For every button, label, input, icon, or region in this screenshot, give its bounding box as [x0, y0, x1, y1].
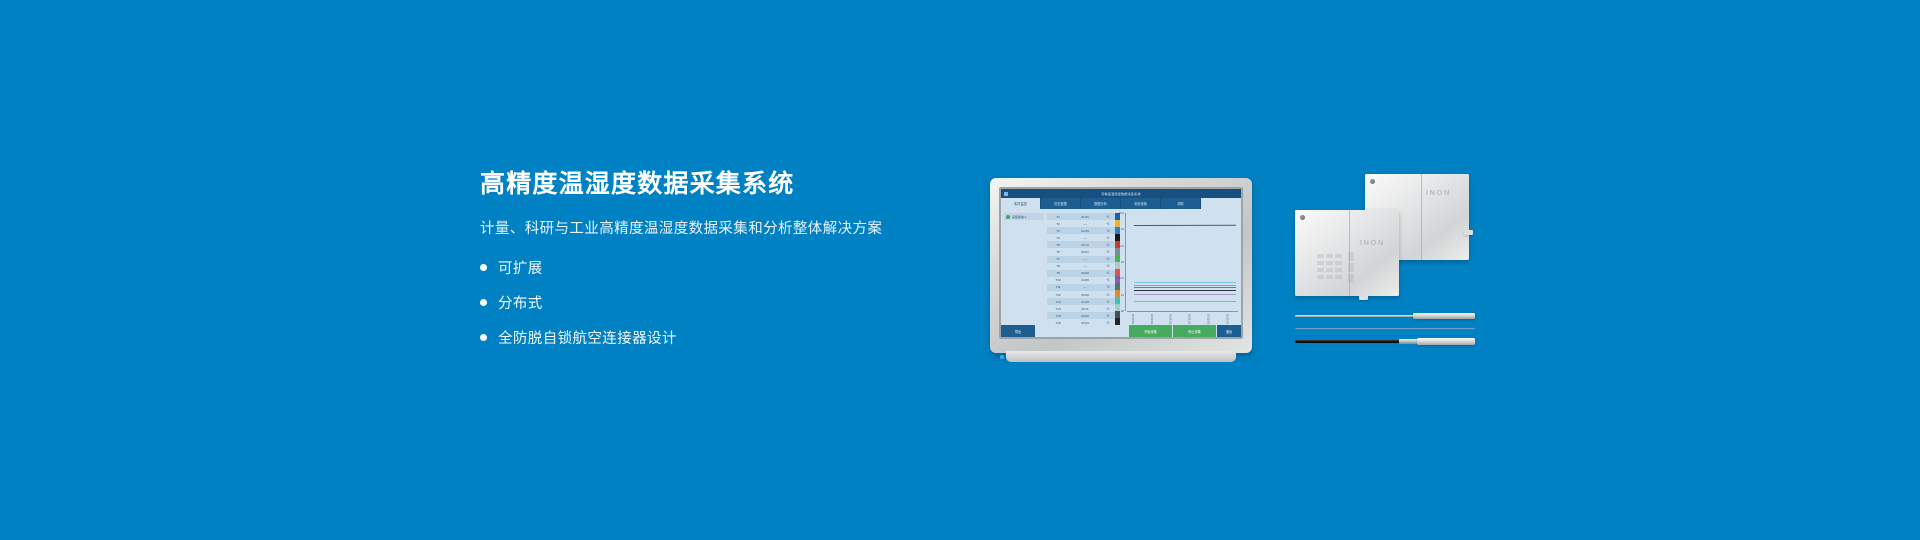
cell-unit: ℃	[1101, 215, 1115, 219]
probe-cable	[1295, 340, 1405, 343]
table-row[interactable]: T7----℃	[1047, 256, 1115, 263]
cell-unit: ℃	[1101, 243, 1115, 247]
cell-channel: T4	[1047, 236, 1069, 240]
cell-value: 20.98	[1069, 271, 1101, 275]
chart-x-tick: 10:20:01	[1131, 314, 1134, 324]
chart-y-tick: 22.0	[1119, 276, 1124, 280]
probe-tip	[1413, 313, 1475, 319]
stop-acquisition-button[interactable]: 停止采集	[1173, 325, 1217, 337]
chart-series-line	[1134, 285, 1236, 286]
cell-channel: T14	[1047, 307, 1069, 311]
cell-channel: T12	[1047, 293, 1069, 297]
chart-y-tick: 21	[1121, 293, 1124, 297]
chart-y-tick: 24	[1121, 227, 1124, 231]
cell-unit: ℃	[1101, 257, 1115, 261]
table-row[interactable]: T11----℃	[1047, 284, 1115, 291]
banner-copy: 高精度温湿度数据采集系统 计量、科研与工业高精度温湿度数据采集和分析整体解决方案…	[480, 170, 910, 348]
cell-unit: ℃	[1101, 229, 1115, 233]
table-row[interactable]: T1324.20℃	[1047, 298, 1115, 305]
cell-value: 20.61	[1069, 250, 1101, 254]
export-button[interactable]: 导出	[1001, 325, 1035, 337]
brand-label: INON	[1360, 238, 1385, 247]
cell-value: 24.88	[1069, 278, 1101, 282]
chart-series-line	[1134, 290, 1236, 291]
device-node-label: 采集模块-1	[1012, 215, 1027, 219]
cell-channel: T15	[1047, 314, 1069, 318]
connector-array-icon	[1317, 252, 1363, 284]
bullet-icon	[480, 299, 487, 306]
table-row[interactable]: T1220.90℃	[1047, 291, 1115, 298]
power-led-icon	[1000, 355, 1004, 359]
monitor-screen: 高精度温湿度数据采集系统 实时监控 历史数据 数据分析 系统设置 帮助	[1001, 189, 1241, 337]
chart-y-tick: 20	[1121, 309, 1124, 313]
cell-unit: ℃	[1101, 222, 1115, 226]
hardware-modules: INON INON	[1295, 172, 1470, 302]
screw-icon	[1300, 215, 1305, 220]
page-title: 高精度温湿度数据采集系统	[480, 170, 910, 199]
feature-label: 全防脱自锁航空连接器设计	[498, 327, 677, 348]
cell-unit: ℃	[1101, 236, 1115, 240]
chart-series-line	[1134, 294, 1236, 295]
device-tree-panel: 采集模块-1	[1001, 209, 1047, 325]
cell-channel: T2	[1047, 222, 1069, 226]
tab-realtime[interactable]: 实时监控	[1001, 198, 1041, 209]
software-tabbar: 实时监控 历史数据 数据分析 系统设置 帮助	[1001, 198, 1241, 209]
cell-unit: ℃	[1101, 271, 1115, 275]
table-row[interactable]: T620.61℃	[1047, 248, 1115, 255]
cell-unit: ℃	[1101, 300, 1115, 304]
cell-unit: ℃	[1101, 250, 1115, 254]
tab-analysis[interactable]: 数据分析	[1081, 198, 1121, 209]
cell-unit: ℃	[1101, 264, 1115, 268]
table-row[interactable]: T4----℃	[1047, 234, 1115, 241]
chart-x-tick: 10:21:31	[1188, 314, 1191, 324]
tab-settings[interactable]: 系统设置	[1121, 198, 1161, 209]
screw-icon	[1370, 179, 1375, 184]
cell-unit: ℃	[1101, 293, 1115, 297]
page-subtitle: 计量、科研与工业高精度温湿度数据采集和分析整体解决方案	[480, 217, 910, 238]
exit-button[interactable]: 退出	[1217, 325, 1241, 337]
panel-seam	[1421, 174, 1422, 260]
chart-x-axis	[1127, 311, 1238, 312]
cell-value: ----	[1069, 285, 1101, 289]
chart-plot-area	[1127, 213, 1238, 311]
product-banner: 高精度温湿度数据采集系统 计量、科研与工业高精度温湿度数据采集和分析整体解决方案…	[0, 0, 1920, 540]
list-item: 可扩展	[480, 257, 910, 278]
chart-x-tick: 10:21:01	[1169, 314, 1172, 324]
bottom-bar-spacer	[1035, 325, 1129, 337]
probe-tip	[1417, 338, 1475, 345]
cell-value: ----	[1069, 236, 1101, 240]
cell-channel: T6	[1047, 250, 1069, 254]
feature-label: 分布式	[498, 292, 543, 313]
cell-channel: T3	[1047, 229, 1069, 233]
mount-tab	[1464, 230, 1473, 235]
chart-y-axis: 25.02424.02322.02120	[1120, 213, 1126, 311]
table-row[interactable]: T324.39℃	[1047, 227, 1115, 234]
monitor-inner-frame: 高精度温湿度数据采集系统 实时监控 历史数据 数据分析 系统设置 帮助	[999, 187, 1243, 339]
chart-series-line	[1134, 287, 1236, 288]
chart-y-tick: 23	[1121, 260, 1124, 264]
bullet-icon	[480, 264, 487, 271]
start-acquisition-button[interactable]: 开始采集	[1129, 325, 1173, 337]
cell-channel: T7	[1047, 257, 1069, 261]
cell-channel: T8	[1047, 264, 1069, 268]
sensor-probes	[1295, 300, 1475, 355]
chart-x-tick: 10:20:31	[1150, 314, 1153, 324]
acquisition-module-front: INON	[1295, 210, 1399, 296]
software-titlebar: 高精度温湿度数据采集系统	[1001, 189, 1241, 198]
table-row[interactable]: T2----℃	[1047, 220, 1115, 227]
cell-channel: T9	[1047, 271, 1069, 275]
cell-value: 24.39	[1069, 229, 1101, 233]
cell-value: 20.11	[1069, 307, 1101, 311]
chart-series-line	[1134, 282, 1236, 283]
status-online-icon	[1006, 215, 1010, 219]
bullet-icon	[480, 334, 487, 341]
cell-value: 24.20	[1069, 300, 1101, 304]
probe-ferrule	[1399, 339, 1419, 344]
cell-value: 20.90	[1069, 314, 1101, 318]
tab-help[interactable]: 帮助	[1161, 198, 1201, 209]
software-bottom-bar: 导出 开始采集 停止采集 退出	[1001, 325, 1241, 337]
device-tree-node[interactable]: 采集模块-1	[1004, 213, 1044, 220]
cell-channel: T13	[1047, 300, 1069, 304]
cell-channel: T5	[1047, 243, 1069, 247]
cell-channel: T11	[1047, 285, 1069, 289]
chart-x-tick: 10:22:31	[1225, 314, 1228, 324]
cell-value: ----	[1069, 222, 1101, 226]
chart-series-line	[1134, 224, 1236, 225]
probe-cable	[1295, 315, 1419, 318]
feature-label: 可扩展	[498, 257, 543, 278]
cell-unit: ℃	[1101, 307, 1115, 311]
cell-unit: ℃	[1101, 314, 1115, 318]
chart-y-tick: 25.0	[1119, 211, 1124, 215]
table-row[interactable]: T520.72℃	[1047, 241, 1115, 248]
list-item: 分布式	[480, 292, 910, 313]
table-row[interactable]: T1520.90℃	[1047, 312, 1115, 319]
table-row[interactable]: T1024.88℃	[1047, 277, 1115, 284]
cell-value: 20.72	[1069, 243, 1101, 247]
cell-value: ----	[1069, 264, 1101, 268]
list-item: 全防脱自锁航空连接器设计	[480, 327, 910, 348]
cell-value: 20.90	[1069, 293, 1101, 297]
app-logo-icon	[1004, 192, 1008, 196]
panel-pc-monitor: 高精度温湿度数据采集系统 实时监控 历史数据 数据分析 系统设置 帮助	[990, 178, 1252, 353]
tab-history[interactable]: 历史数据	[1041, 198, 1081, 209]
trend-chart: 25.02424.02322.02120 10:20:0110:20:3110:…	[1120, 209, 1241, 325]
tabbar-filler	[1201, 198, 1241, 209]
cell-unit: ℃	[1101, 278, 1115, 282]
probe-cable	[1295, 328, 1475, 330]
table-row[interactable]: T8----℃	[1047, 263, 1115, 270]
feature-list: 可扩展 分布式 全防脱自锁航空连接器设计	[480, 257, 910, 348]
cell-value: 21.81	[1069, 215, 1101, 219]
software-body: 采集模块-1 T121.81℃T2----℃T324.39℃T4----℃T52…	[1001, 209, 1241, 325]
table-row[interactable]: T121.81℃	[1047, 213, 1115, 220]
monitor-base	[1006, 351, 1237, 362]
cell-channel: T1	[1047, 215, 1069, 219]
cell-unit: ℃	[1101, 285, 1115, 289]
monitor-bezel: 高精度温湿度数据采集系统 实时监控 历史数据 数据分析 系统设置 帮助	[990, 178, 1252, 353]
chart-series-line	[1134, 301, 1236, 302]
window-title: 高精度温湿度数据采集系统	[1101, 191, 1141, 196]
table-row[interactable]: T1420.11℃	[1047, 305, 1115, 312]
chart-x-tick: 10:22:01	[1206, 314, 1209, 324]
table-row[interactable]: T920.98℃	[1047, 270, 1115, 277]
channel-table: T121.81℃T2----℃T324.39℃T4----℃T520.72℃T6…	[1047, 209, 1115, 325]
brand-label: INON	[1426, 188, 1451, 197]
cell-value: ----	[1069, 257, 1101, 261]
chart-y-tick: 24.0	[1119, 244, 1124, 248]
cell-channel: T10	[1047, 278, 1069, 282]
